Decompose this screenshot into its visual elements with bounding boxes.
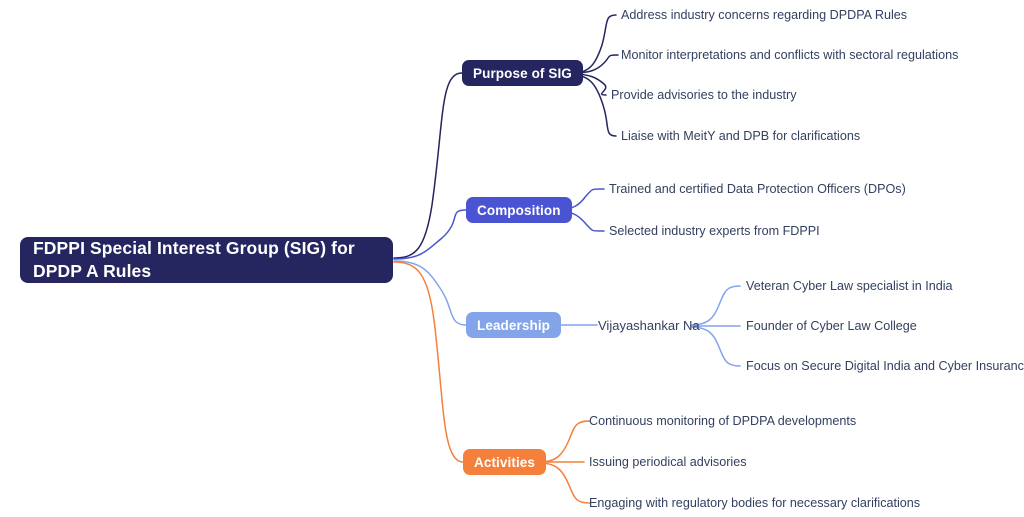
leaf-activities-2: Issuing periodical advisories: [589, 455, 747, 470]
leaf-composition-2: Selected industry experts from FDPPI: [609, 224, 820, 239]
edge-root-to-composition: [394, 210, 466, 259]
branch-node-activities[interactable]: Activities: [463, 449, 546, 475]
leaf-activities-3: Engaging with regulatory bodies for nece…: [589, 496, 920, 511]
branch-label-leadership: Leadership: [477, 318, 550, 333]
branch-node-composition[interactable]: Composition: [466, 197, 572, 223]
branch-label-purpose-of-sig: Purpose of SIG: [473, 66, 572, 81]
edge-root-to-purpose: [394, 73, 462, 258]
mid-node-vijayashankar-na[interactable]: Vijayashankar Na: [598, 318, 700, 333]
leaf-purpose-1: Address industry concerns regarding DPDP…: [621, 8, 907, 23]
leaf-purpose-2: Monitor interpretations and conflicts wi…: [621, 48, 958, 63]
leaf-leadership-2: Founder of Cyber Law College: [746, 319, 917, 334]
leaf-purpose-3: Provide advisories to the industry: [611, 88, 797, 103]
edge-root-to-activities: [394, 262, 463, 462]
branch-label-activities: Activities: [474, 455, 535, 470]
edge-activities-to-leaf-3: [540, 463, 590, 503]
branch-node-leadership[interactable]: Leadership: [466, 312, 561, 338]
branch-label-composition: Composition: [477, 203, 561, 218]
leaf-activities-1: Continuous monitoring of DPDPA developme…: [589, 414, 856, 429]
leaf-leadership-3: Focus on Secure Digital India and Cyber …: [746, 359, 1024, 374]
edge-activities-to-leaf-1: [540, 421, 590, 462]
root-node[interactable]: FDPPI Special Interest Group (SIG) for D…: [20, 237, 393, 283]
branch-node-purpose-of-sig[interactable]: Purpose of SIG: [462, 60, 583, 86]
leaf-composition-1: Trained and certified Data Protection Of…: [609, 182, 906, 197]
edge-root-to-leadership: [394, 261, 466, 325]
mind-map-canvas: FDPPI Special Interest Group (SIG) for D…: [0, 0, 1024, 517]
leaf-purpose-4: Liaise with MeitY and DPB for clarificat…: [621, 129, 860, 144]
leaf-leadership-1: Veteran Cyber Law specialist in India: [746, 279, 953, 294]
root-node-label: FDPPI Special Interest Group (SIG) for D…: [33, 237, 380, 283]
